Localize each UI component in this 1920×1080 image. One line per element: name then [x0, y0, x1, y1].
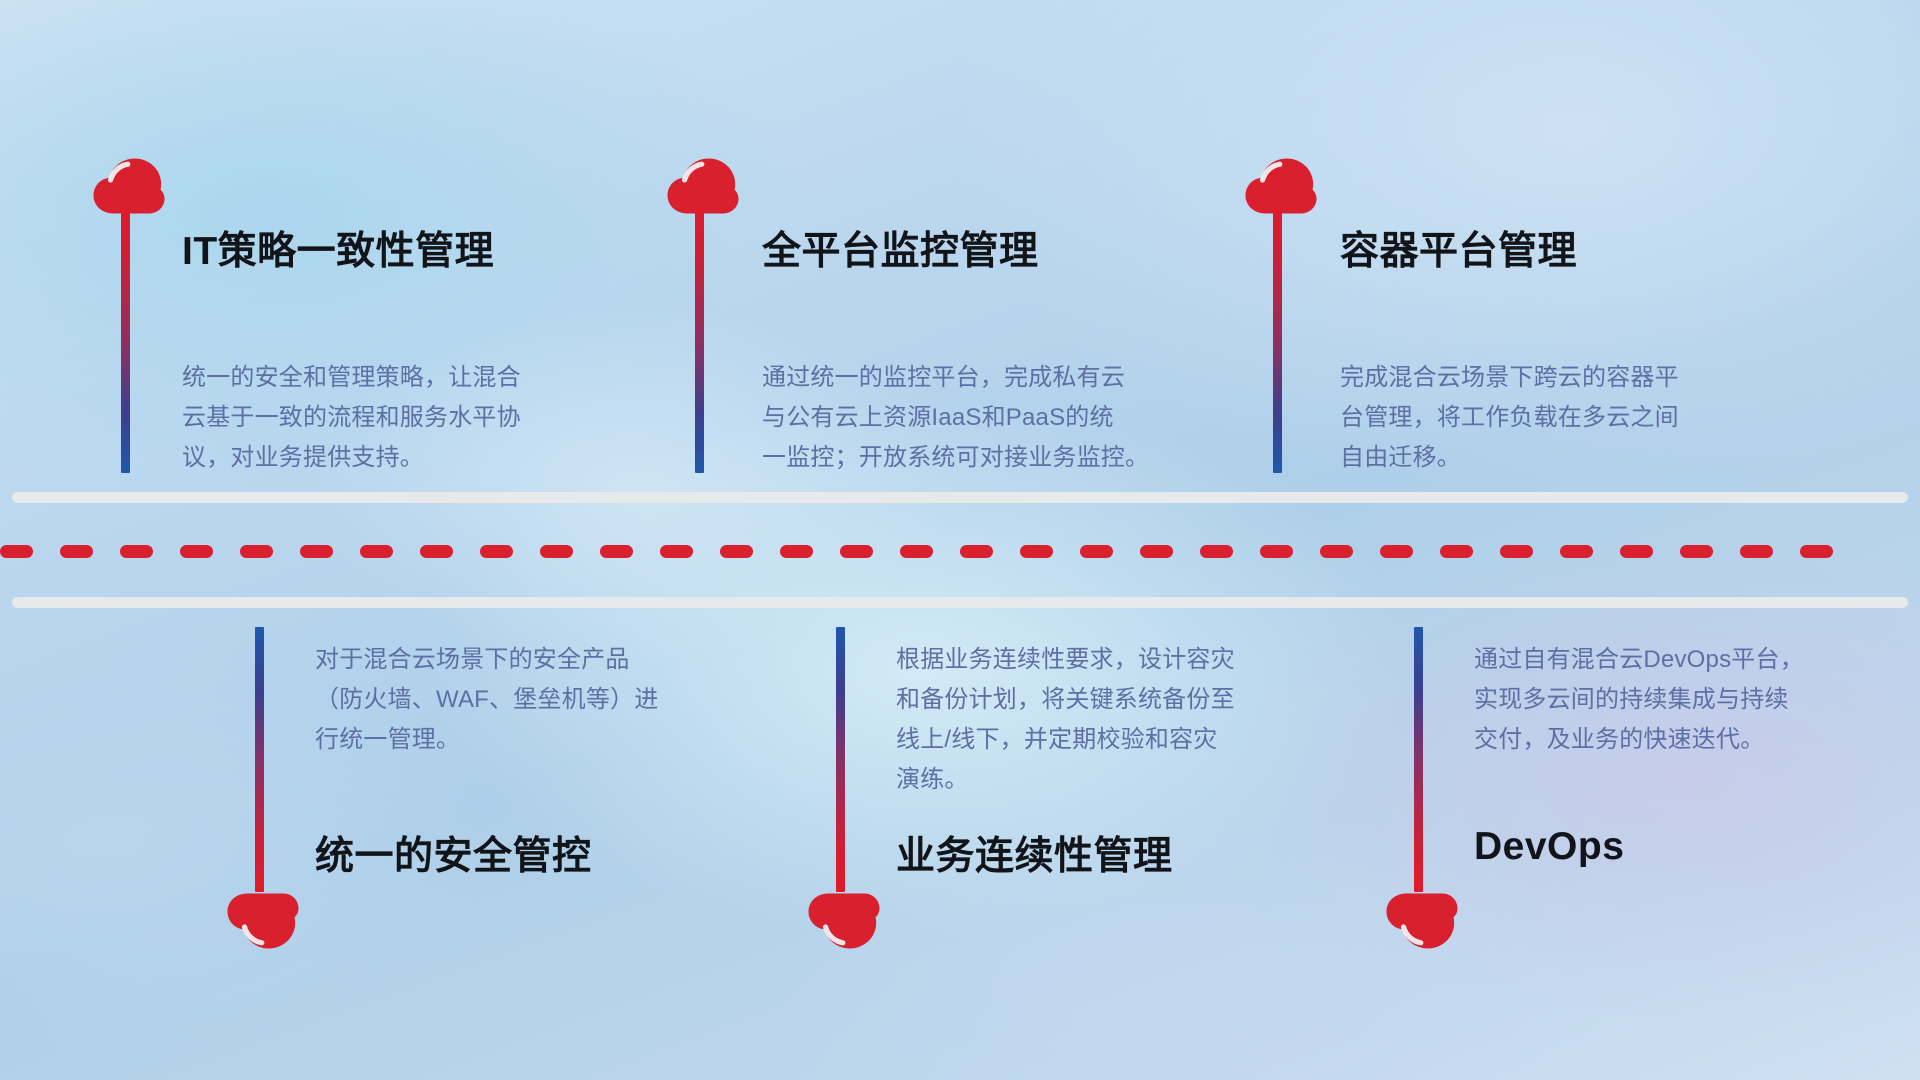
bottom-heading-1: 统一的安全管控: [315, 825, 592, 881]
divider-dash: [540, 545, 573, 558]
divider-dash: [660, 545, 693, 558]
divider-dash: [1020, 545, 1053, 558]
stem-connector: [1273, 208, 1282, 473]
divider-dash: [480, 545, 513, 558]
divider-dash: [1620, 545, 1653, 558]
top-heading-1: IT策略一致性管理: [182, 220, 494, 276]
divider-dash: [180, 545, 213, 558]
divider-rule-upper: [12, 492, 1908, 503]
top-body-1: 统一的安全和管理策略，让混合 云基于一致的流程和服务水平协 议，对业务提供支持。: [182, 358, 612, 478]
divider-dash: [360, 545, 393, 558]
top-body-3: 完成混合云场景下跨云的容器平 台管理，将工作负载在多云之间 自由迁移。: [1340, 358, 1790, 478]
infographic-canvas: IT策略一致性管理 统一的安全和管理策略，让混合 云基于一致的流程和服务水平协 …: [0, 0, 1920, 1080]
divider-dash: [60, 545, 93, 558]
bottom-body-2: 根据业务连续性要求，设计容灾 和备份计划，将关键系统备份至 线上/线下，并定期校…: [896, 640, 1326, 800]
divider-dash: [1440, 545, 1473, 558]
bottom-heading-3: DevOps: [1474, 825, 1624, 869]
cloud-icon: [227, 893, 299, 949]
stem-connector: [836, 627, 845, 892]
divider-dash: [1320, 545, 1353, 558]
divider-dash: [1140, 545, 1173, 558]
divider-dash: [840, 545, 873, 558]
divider-dash: [1080, 545, 1113, 558]
divider-dash: [1200, 545, 1233, 558]
stem-connector: [255, 627, 264, 892]
cloud-icon: [1245, 158, 1317, 214]
divider-dash: [1680, 545, 1713, 558]
top-heading-2: 全平台监控管理: [762, 220, 1039, 276]
divider-dash: [1560, 545, 1593, 558]
stem-connector: [121, 208, 130, 473]
cloud-icon: [93, 158, 165, 214]
divider-dash: [1740, 545, 1773, 558]
divider-dashed-red: [0, 545, 1920, 558]
divider-dash: [300, 545, 333, 558]
cloud-icon: [808, 893, 880, 949]
divider-dash: [1800, 545, 1833, 558]
divider-dash: [0, 545, 33, 558]
bottom-heading-2: 业务连续性管理: [896, 825, 1173, 881]
divider-dash: [900, 545, 933, 558]
divider-dash: [240, 545, 273, 558]
divider-dash: [720, 545, 753, 558]
bottom-body-3: 通过自有混合云DevOps平台， 实现多云间的持续集成与持续 交付，及业务的快速…: [1474, 640, 1904, 760]
divider-dash: [420, 545, 453, 558]
stem-connector: [695, 208, 704, 473]
divider-dash: [120, 545, 153, 558]
divider-dash: [780, 545, 813, 558]
cloud-icon: [1386, 893, 1458, 949]
bottom-body-1: 对于混合云场景下的安全产品 （防火墙、WAF、堡垒机等）进 行统一管理。: [315, 640, 745, 760]
divider-dash: [600, 545, 633, 558]
stem-connector: [1414, 627, 1423, 892]
divider-dash: [960, 545, 993, 558]
top-heading-3: 容器平台管理: [1340, 220, 1577, 276]
top-body-2: 通过统一的监控平台，完成私有云 与公有云上资源IaaS和PaaS的统 一监控；开…: [762, 358, 1222, 478]
divider-dash: [1260, 545, 1293, 558]
divider-dash: [1500, 545, 1533, 558]
divider-dash: [1380, 545, 1413, 558]
divider-rule-lower: [12, 597, 1908, 608]
cloud-icon: [667, 158, 739, 214]
